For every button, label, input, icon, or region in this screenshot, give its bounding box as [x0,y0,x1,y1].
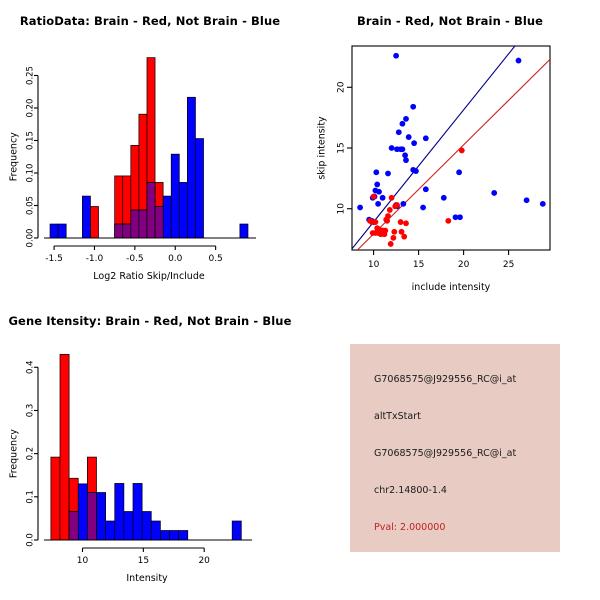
y-axis-tick-label: 0.4 [26,361,36,375]
y-axis-tick-label: 0.2 [26,447,36,461]
histogram-bar-not-brain [232,521,241,540]
scatter-point-not-brain [423,186,429,192]
scatter-point-not-brain [516,58,522,64]
scatter-point-not-brain [393,53,399,59]
scatter-point-not-brain [385,171,391,177]
panel-annotation-info: G7068575@J929556_RC@i_at altTxStart G706… [300,300,600,600]
histogram-bar-not-brain [133,483,142,540]
scatter-plot-box [352,46,550,250]
scatter-point-not-brain [420,205,426,211]
scatter-point-brain [392,203,398,209]
x-axis-tick-label: 0.0 [168,254,183,264]
annotation-infobox: G7068575@J929556_RC@i_at altTxStart G706… [350,344,560,552]
scatter-point-brain [373,219,379,225]
histogram-bar-overlap [131,210,139,238]
histogram-bar-not-brain [160,531,169,541]
x-axis-tick-label: 0.5 [208,254,222,264]
x-axis-tick-label: 10 [77,556,89,566]
histogram-bar-overlap [87,493,96,541]
scatter-point-not-brain [396,129,402,135]
scatter-point-brain [384,218,390,224]
scatter-point-not-brain [441,195,447,201]
histogram-bar-not-brain [124,512,133,541]
scatter-point-not-brain [357,205,363,211]
scatter-point-not-brain [540,201,546,207]
scatter-point-brain [403,220,409,226]
scatter-point-brain [459,148,465,154]
scatter-point-brain [399,229,405,235]
histogram-bar-overlap [139,210,147,238]
scatter-point-not-brain [406,134,412,140]
scatter-point-not-brain [389,145,395,151]
histogram-bar-not-brain [240,224,248,238]
x-axis-tick-label: 15 [138,556,149,566]
histogram-bar-not-brain [163,196,171,238]
scatter-point-not-brain [524,197,530,203]
histogram-bar-not-brain [179,531,188,541]
scatter-point-not-brain [491,190,497,196]
scatter-point-not-brain [403,116,409,122]
histogram-bar-overlap [69,512,78,541]
panel-ratio-histogram: RatioData: Brain - Red, Not Brain - Blue… [0,0,300,300]
histogram-bar-not-brain [58,224,66,238]
x-axis-tick-label: -0.5 [126,254,144,264]
histogram-bar-not-brain [106,521,115,540]
scatter-point-brain [371,194,377,200]
x-axis-label: include intensity [412,282,491,293]
y-axis-tick-label: 20 [337,81,347,93]
histogram-bar-not-brain [187,97,195,238]
y-axis-tick-label: 0.25 [26,66,36,85]
x-axis-tick-label: 20 [458,260,470,270]
scatter-point-brain [382,231,388,237]
ratio-histogram-plot: 0.000.050.100.150.200.25Frequency-1.5-1.… [0,0,300,300]
histogram-bar-overlap [115,224,123,238]
probe-id-primary: G7068575@J929556_RC@i_at [374,374,560,385]
y-axis-label: skip intensity [317,116,328,180]
scatter-point-not-brain [411,140,417,146]
scatter-point-brain [445,218,451,224]
panel-gene-intensity-histogram: Gene Itensity: Brain - Red, Not Brain - … [0,300,300,600]
scatter-point-brain [389,195,395,201]
y-axis-label: Frequency [9,132,20,181]
histogram-bar-not-brain [179,182,187,238]
scatter-point-not-brain [456,169,462,175]
x-axis-tick-label: -1.5 [45,254,63,264]
y-axis-tick-label: 0.10 [26,164,36,183]
scatter-point-not-brain [402,152,408,158]
y-axis-tick-label: 0.0 [26,533,36,547]
histogram-bar-not-brain [82,196,90,238]
x-axis-tick-label: 10 [368,260,380,270]
scatter-point-brain [387,207,393,213]
scatter-point-brain [391,235,397,241]
scatter-point-brain [388,241,394,247]
scatter-content [352,46,550,250]
histogram-bar-overlap [147,182,155,238]
x-axis-tick-label: 25 [503,260,514,270]
x-axis-tick-label: -1.0 [86,254,104,264]
y-axis-tick-label: 0.20 [26,99,36,118]
histogram-bar-not-brain [50,224,58,238]
histogram-bar-overlap [155,206,163,238]
y-axis-tick-label: 15 [337,142,347,153]
histogram-bar-not-brain [171,154,179,238]
x-axis-label: Intensity [126,573,168,584]
scatter-point-not-brain [400,146,406,152]
x-axis-label: Log2 Ratio Skip/Include [93,271,205,282]
scatter-point-not-brain [374,182,380,188]
scatter-point-not-brain [413,168,419,174]
y-axis-tick-label: 0.05 [26,196,36,215]
scatter-point-not-brain [400,121,406,127]
histogram-bar-not-brain [115,483,124,540]
histogram-bar-not-brain [170,531,179,541]
histogram-bar-not-brain [97,493,106,541]
histogram-bar-not-brain [195,139,203,238]
intensity-scatter-plot: 101520skip intensity10152025include inte… [300,0,600,300]
scatter-point-not-brain [375,201,381,207]
coordinates: chr2.14800-1.4 [374,485,560,496]
scatter-point-not-brain [376,189,382,195]
histogram-bar-brain [51,457,60,540]
histogram-bar-brain [60,354,69,540]
y-axis-label: Frequency [9,429,20,478]
regression-line [352,46,515,249]
scatter-point-not-brain [403,157,409,163]
y-axis-tick-label: 0.15 [26,131,36,150]
scatter-point-not-brain [380,195,386,201]
figure-canvas: RatioData: Brain - Red, Not Brain - Blue… [0,0,600,600]
scatter-point-not-brain [373,169,379,175]
histogram-bar-overlap [123,224,131,238]
histogram-bar-not-brain [78,484,87,540]
scatter-point-brain [398,219,404,225]
histogram-bar-not-brain [151,521,160,540]
scatter-point-brain [401,234,407,240]
scatter-point-not-brain [410,104,416,110]
event-type: altTxStart [374,411,560,422]
x-axis-tick-label: 20 [198,556,210,566]
probe-id-secondary: G7068575@J929556_RC@i_at [374,448,560,459]
y-axis-tick-label: 0.1 [26,490,36,504]
histogram-bar-brain [90,206,98,238]
scatter-point-brain [391,229,397,235]
histogram-bar-not-brain [142,512,151,541]
y-axis-tick-label: 10 [337,203,347,215]
panel-intensity-scatter: Brain - Red, Not Brain - Blue 101520skip… [300,0,600,300]
gene-intensity-histogram-plot: 0.00.10.20.30.4Frequency101520Intensity [0,300,300,600]
x-axis-tick-label: 15 [413,260,424,270]
scatter-point-not-brain [457,214,463,220]
pvalue: Pval: 2.000000 [374,522,560,533]
y-axis-tick-label: 0.00 [26,229,36,248]
scatter-point-not-brain [400,201,406,207]
scatter-point-not-brain [423,135,429,141]
y-axis-tick-label: 0.3 [26,404,36,418]
